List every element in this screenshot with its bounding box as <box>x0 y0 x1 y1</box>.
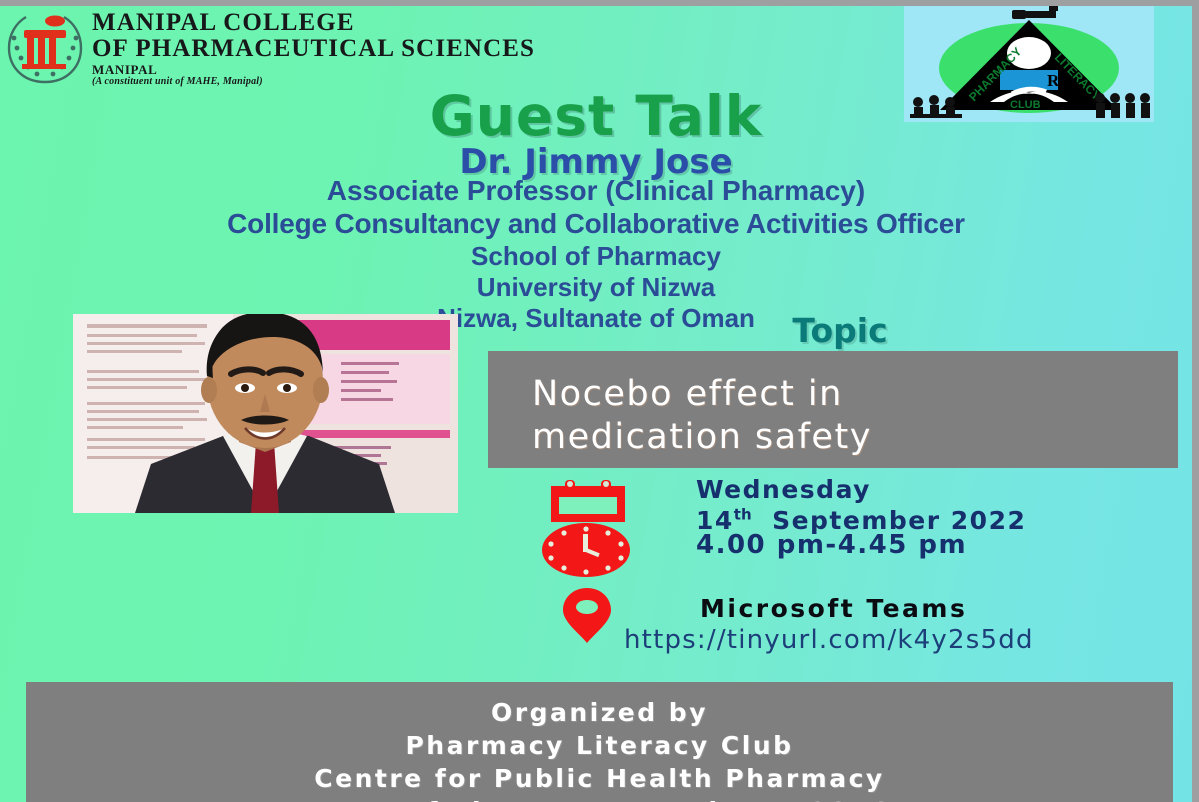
affiliation-line-4: University of Nizwa <box>0 272 1192 303</box>
page-title: Guest Talk <box>0 84 1192 148</box>
event-time: 4.00 pm-4.45 pm <box>696 530 967 560</box>
event-poster: MANIPAL COLLEGE OF PHARMACEUTICAL SCIENC… <box>0 0 1199 802</box>
college-line-1: MANIPAL COLLEGE <box>92 10 535 36</box>
institution-name-block: MANIPAL COLLEGE OF PHARMACEUTICAL SCIENC… <box>92 10 535 87</box>
organizer-box: Organized by Pharmacy Literacy Club Cent… <box>26 682 1173 802</box>
speaker-photo <box>73 314 458 513</box>
event-date: Wednesday 14th September 2022 <box>696 474 1026 537</box>
college-city: MANIPAL <box>92 63 535 76</box>
college-line-2: OF PHARMACEUTICAL SCIENCES <box>92 36 535 62</box>
topic-line-1: Nocebo effect in <box>532 373 872 416</box>
speaker-affiliation: Associate Professor (Clinical Pharmacy) … <box>0 174 1192 333</box>
topic-box: Nocebo effect in medication safety <box>488 351 1178 468</box>
organizer-line-3: Centre for Public Health Pharmacy <box>26 762 1173 795</box>
clock-icon <box>540 522 632 579</box>
organizer-line-1: Organized by <box>26 696 1173 729</box>
affiliation-line-3: School of Pharmacy <box>0 241 1192 272</box>
organizer-line-2: Pharmacy Literacy Club <box>26 729 1173 762</box>
organizer-line-4: Dept. of Pharmacy Practice, MCOPS <box>26 795 1173 802</box>
mahe-emblem-icon <box>2 8 88 88</box>
topic-text: Nocebo effect in medication safety <box>532 373 872 458</box>
affiliation-line-2: College Consultancy and Collaborative Ac… <box>0 207 1192 240</box>
affiliation-line-1: Associate Professor (Clinical Pharmacy) <box>0 174 1192 207</box>
event-join-link[interactable]: https://tinyurl.com/k4y2s5dd <box>624 625 1034 655</box>
topic-line-2: medication safety <box>532 416 872 459</box>
calendar-icon <box>547 478 629 526</box>
event-date-suffix: th <box>734 506 752 524</box>
event-venue: Microsoft Teams <box>700 594 967 623</box>
topic-heading: Topic <box>620 311 1060 350</box>
organizer-text: Organized by Pharmacy Literacy Club Cent… <box>26 696 1173 802</box>
event-day: Wednesday <box>696 474 1026 505</box>
location-pin-icon <box>556 584 618 646</box>
